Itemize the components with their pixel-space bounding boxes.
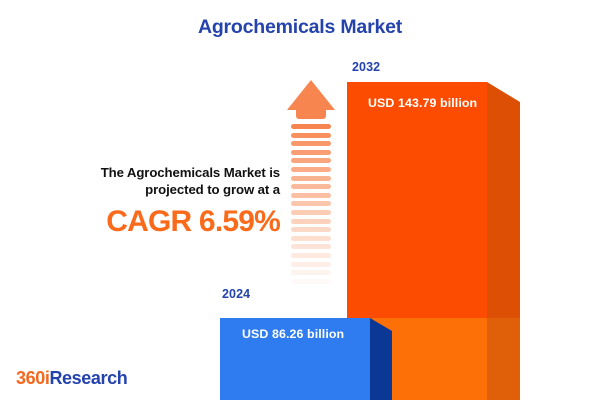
arrow-stripe [291, 193, 331, 198]
logo-blue-text: Research [49, 368, 127, 388]
arrow-stripe [291, 279, 331, 284]
arrow-stripe [291, 150, 331, 155]
bar-2032-value-label: USD 143.79 billion [368, 96, 477, 110]
brand-logo: 360iResearch [16, 368, 127, 389]
arrow-stripe [291, 227, 331, 232]
arrow-stripe [291, 133, 331, 138]
arrow-stripe [291, 141, 331, 146]
infographic-canvas: Agrochemicals Market The Agrochemicals M… [0, 0, 600, 400]
arrow-stripe [291, 184, 331, 189]
arrow-stripe [291, 167, 331, 172]
growth-arrow-icon [287, 80, 335, 298]
arrow-stripe [291, 287, 331, 292]
logo-orange-text: 360i [16, 368, 49, 388]
page-title: Agrochemicals Market [0, 16, 600, 39]
arrow-head-icon [287, 80, 335, 110]
bar-2024-side-face [370, 318, 392, 400]
arrow-stripes [291, 124, 331, 298]
arrow-stripe [291, 124, 331, 129]
bar-2024-year-label: 2024 [222, 287, 250, 301]
arrow-stripe [291, 236, 331, 241]
arrow-stripe [291, 176, 331, 181]
cagr-callout: The Agrochemicals Market is projected to… [40, 164, 280, 239]
arrow-stripe [291, 210, 331, 215]
bar-2032-side-face-lower [487, 318, 520, 400]
arrow-neck [296, 108, 326, 119]
arrow-stripe [291, 270, 331, 275]
cagr-lead-text: The Agrochemicals Market is projected to… [40, 164, 280, 198]
bar-2032-year-label: 2032 [352, 60, 380, 74]
arrow-stripe [291, 253, 331, 258]
cagr-value-text: CAGR 6.59% [40, 205, 280, 239]
arrow-stripe [291, 158, 331, 163]
arrow-stripe [291, 262, 331, 267]
arrow-stripe [291, 244, 331, 249]
bar-2024-value-label: USD 86.26 billion [242, 327, 344, 341]
arrow-stripe [291, 201, 331, 206]
arrow-stripe [291, 219, 331, 224]
